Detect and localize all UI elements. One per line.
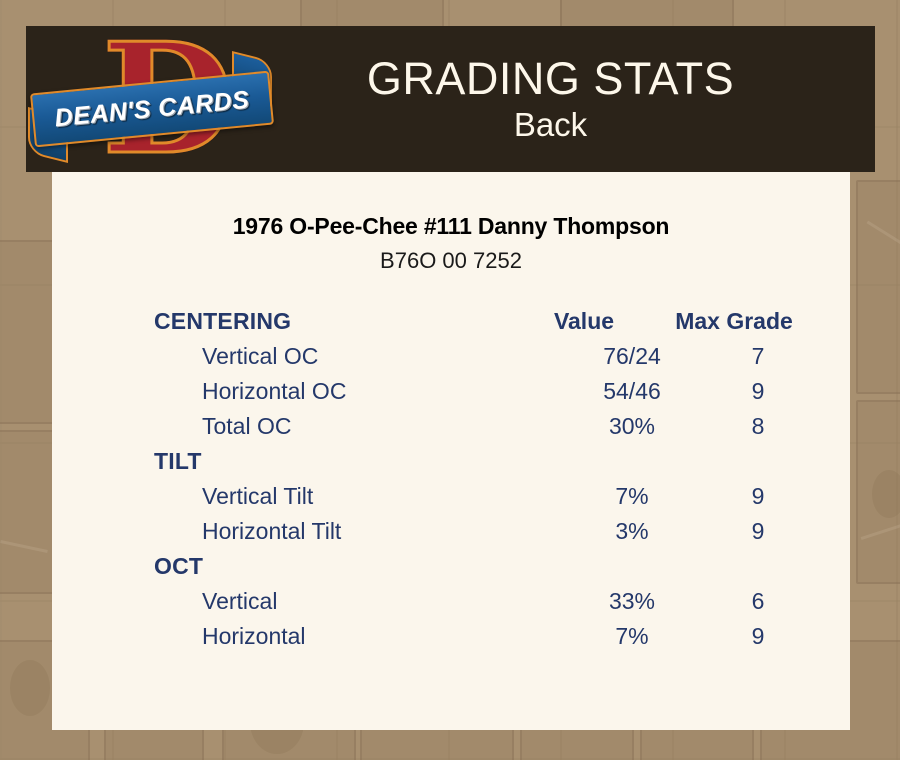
card-code: B76O 00 7252 (52, 248, 850, 274)
logo-ribbon: DEAN'S CARDS (30, 71, 274, 148)
header-bar: D DEAN'S CARDS GRADING STATS Back (26, 26, 875, 172)
stats-item-row: Vertical Tilt7%9 (154, 483, 794, 518)
stats-item-row: Horizontal Tilt3%9 (154, 518, 794, 553)
background-figure (872, 470, 900, 518)
stats-row-label: Total OC (154, 413, 542, 440)
stats-row-value: 54/46 (542, 378, 722, 405)
logo-ribbon-text: DEAN'S CARDS (53, 85, 250, 133)
stats-row-grade: 9 (722, 623, 794, 650)
stats-row-label: Horizontal (154, 623, 542, 650)
stats-item-row: Vertical OC76/247 (154, 343, 794, 378)
stats-section-row: TILT (154, 448, 794, 483)
stats-row-grade: 7 (722, 343, 794, 370)
stats-row-label: Horizontal OC (154, 378, 542, 405)
stats-row-value: 7% (542, 623, 722, 650)
stats-section-row: OCT (154, 553, 794, 588)
header-title-group: GRADING STATS Back (274, 53, 875, 145)
stats-row-grade: 6 (722, 588, 794, 615)
stats-row-label: CENTERING (154, 308, 494, 335)
background-card (856, 180, 900, 394)
background-card (0, 430, 54, 594)
background-card (0, 240, 54, 424)
stats-row-label: Horizontal Tilt (154, 518, 542, 545)
stats-item-row: Total OC30%8 (154, 413, 794, 448)
page-subtitle: Back (274, 105, 827, 145)
stats-row-grade: Max Grade (674, 308, 794, 335)
stats-row-grade: 8 (722, 413, 794, 440)
stats-row-value: 76/24 (542, 343, 722, 370)
stats-row-grade: 9 (722, 378, 794, 405)
grading-stats-page: D DEAN'S CARDS GRADING STATS Back 1976 O… (0, 0, 900, 760)
content-panel: 1976 O-Pee-Chee #111 Danny Thompson B76O… (52, 172, 850, 730)
stats-row-value: 7% (542, 483, 722, 510)
stats-row-label: TILT (154, 448, 494, 475)
deans-cards-logo[interactable]: D DEAN'S CARDS (26, 26, 274, 172)
stats-row-value: 33% (542, 588, 722, 615)
stats-item-row: Horizontal7%9 (154, 623, 794, 658)
card-title: 1976 O-Pee-Chee #111 Danny Thompson (52, 213, 850, 240)
stats-row-value: Value (494, 308, 674, 335)
stats-row-grade: 9 (722, 518, 794, 545)
stats-row-grade: 9 (722, 483, 794, 510)
stats-row-value: 30% (542, 413, 722, 440)
stats-row-label: Vertical Tilt (154, 483, 542, 510)
stats-item-row: Vertical33%6 (154, 588, 794, 623)
background-figure (10, 660, 50, 716)
stats-row-value: 3% (542, 518, 722, 545)
stats-section-row: CENTERINGValueMax Grade (154, 308, 794, 343)
stats-item-row: Horizontal OC54/469 (154, 378, 794, 413)
page-title: GRADING STATS (274, 53, 827, 105)
grading-stats-table: CENTERINGValueMax GradeVertical OC76/247… (52, 308, 850, 658)
stats-row-label: Vertical (154, 588, 542, 615)
stats-row-label: OCT (154, 553, 494, 580)
stats-row-label: Vertical OC (154, 343, 542, 370)
